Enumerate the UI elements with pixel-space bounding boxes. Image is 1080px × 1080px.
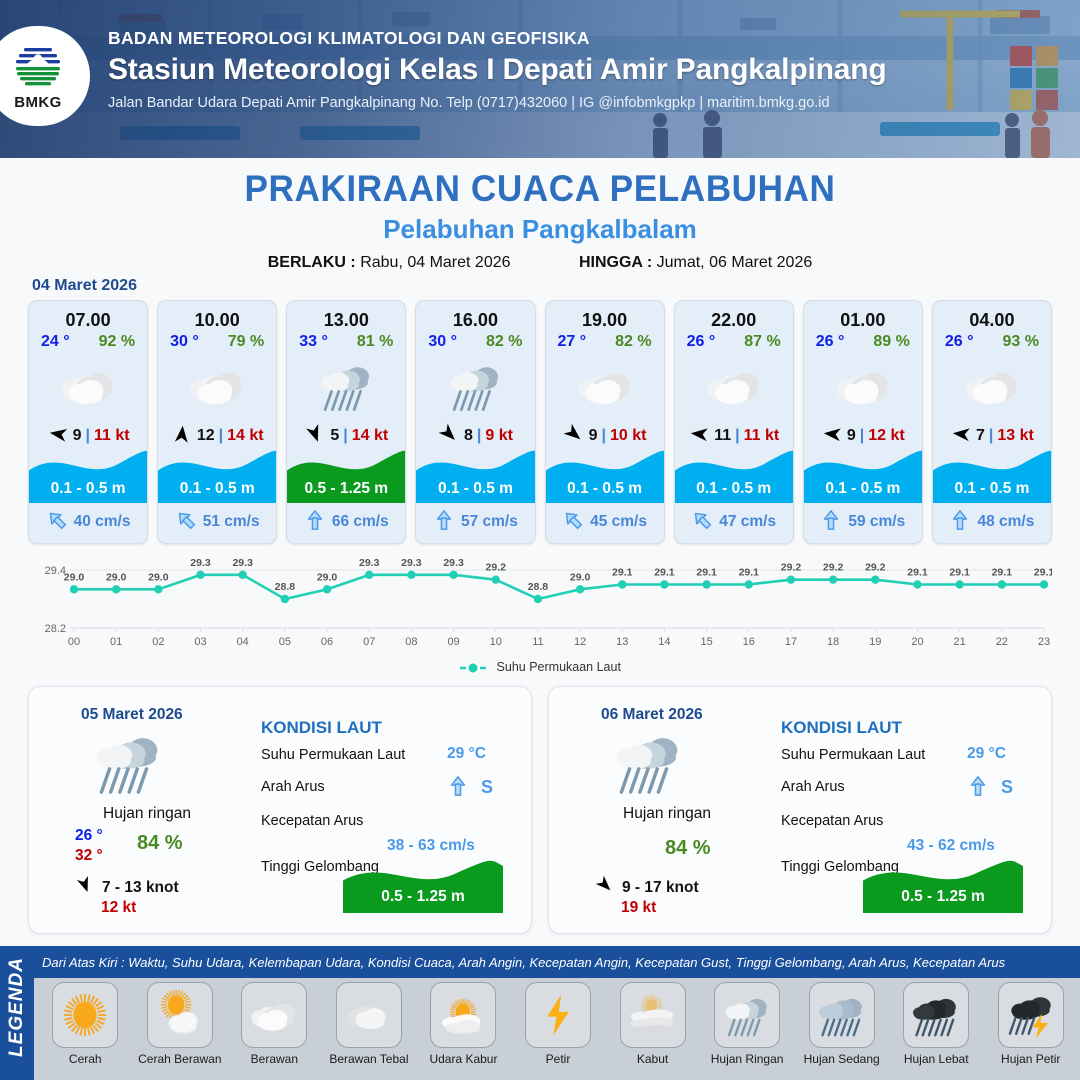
legend-item-label: Hujan Sedang <box>796 1052 887 1066</box>
berawan-tebal-icon <box>336 982 402 1048</box>
svg-text:29.0: 29.0 <box>570 571 591 583</box>
hourly-humidity: 79 % <box>228 333 264 351</box>
daily-gust-value: 12 kt <box>101 899 136 917</box>
svg-text:21: 21 <box>954 636 966 648</box>
legend-icon-row: Cerah Cerah Berawan Berawan Berawan Teba… <box>40 980 1076 1078</box>
daily-wind: 9 - 17 knot <box>595 875 699 900</box>
hourly-humidity: 87 % <box>744 333 780 351</box>
station-contact: Jalan Bandar Udara Depati Amir Pangkalpi… <box>108 95 886 111</box>
legend-item: Berawan Tebal <box>324 980 415 1066</box>
wind-direction-value: 9 <box>73 427 82 445</box>
hourly-humidity: 82 % <box>486 333 522 351</box>
current-direction-arrow-icon <box>433 509 455 536</box>
legend-item: Udara Kabur <box>418 980 509 1066</box>
hourly-time: 04.00 <box>933 310 1051 331</box>
current-direction-arrow-icon <box>967 775 989 802</box>
wind-gust-value: 11 kt <box>94 427 130 445</box>
legend-item: Hujan Sedang <box>796 980 887 1066</box>
berawan-icon <box>675 355 793 417</box>
legend-item-label: Hujan Ringan <box>702 1052 793 1066</box>
berawan-icon <box>158 355 276 417</box>
wind-separator: | <box>85 427 89 445</box>
wind-gust-value: 9 kt <box>485 427 513 445</box>
wind-separator: | <box>735 427 739 445</box>
current-speed-value: 38 - 63 cm/s <box>387 837 475 855</box>
daily-humidity: 84 % <box>665 837 711 860</box>
current-speed-label: Kecepatan Arus <box>781 813 883 829</box>
legend-item-label: Udara Kabur <box>418 1052 509 1066</box>
wave-height-value: 0.1 - 0.5 m <box>546 475 664 503</box>
daily-gust-value: 19 kt <box>621 899 656 917</box>
header-text-block: BADAN METEOROLOGI KLIMATOLOGI DAN GEOFIS… <box>108 28 886 111</box>
hourly-time: 19.00 <box>546 310 664 331</box>
legend-item-label: Berawan <box>229 1052 320 1066</box>
wind-direction-arrow-icon <box>438 423 460 450</box>
hourly-time: 22.00 <box>675 310 793 331</box>
berawan-icon <box>804 355 922 417</box>
legend-item-label: Kabut <box>607 1052 698 1066</box>
wind-gust-value: 13 kt <box>997 427 1033 445</box>
legend-item-label: Hujan Lebat <box>891 1052 982 1066</box>
current-direction-value: S <box>1001 777 1013 798</box>
hourly-temperature: 26 ° <box>816 333 845 351</box>
hujan-petir-icon <box>998 982 1064 1048</box>
wind-direction-arrow-icon <box>688 423 710 450</box>
hourly-card[interactable]: 22.00 26 ° 87 % 11 | 11 kt 0.1 - 0.5 m 4… <box>674 300 794 544</box>
svg-text:15: 15 <box>700 636 712 648</box>
daily-temp-min: 26 ° <box>75 827 103 845</box>
current-speed-value: 43 - 62 cm/s <box>907 837 995 855</box>
svg-text:19: 19 <box>869 636 881 648</box>
wave-height-value: 0.1 - 0.5 m <box>29 475 147 503</box>
validity-line: BERLAKU : Rabu, 04 Maret 2026 HINGGA : J… <box>0 254 1080 272</box>
svg-text:29.1: 29.1 <box>654 567 675 579</box>
svg-text:29.2: 29.2 <box>486 562 507 574</box>
svg-text:29.1: 29.1 <box>907 567 928 579</box>
hourly-card[interactable]: 16.00 30 ° 82 % 8 | 9 kt 0.1 - 0.5 m 57 … <box>415 300 535 544</box>
svg-text:16: 16 <box>743 636 755 648</box>
daily-wind-value: 7 - 13 knot <box>102 879 179 897</box>
wind-gust-value: 12 kt <box>868 427 904 445</box>
bmkg-logo-text: BMKG <box>14 94 61 111</box>
chart-legend: Suhu Permukaan Laut <box>0 660 1080 674</box>
current-direction-arrow-icon <box>447 775 469 802</box>
legend-item: Kabut <box>607 980 698 1066</box>
svg-text:29.3: 29.3 <box>359 557 380 569</box>
svg-text:29.3: 29.3 <box>190 557 211 569</box>
sea-conditions-title: KONDISI LAUT <box>781 718 902 738</box>
hourly-humidity: 89 % <box>873 333 909 351</box>
wind-direction-arrow-icon <box>75 875 95 900</box>
sst-value: 29 °C <box>967 745 1006 763</box>
hourly-humidity: 92 % <box>99 333 135 351</box>
svg-text:08: 08 <box>405 636 417 648</box>
svg-text:13: 13 <box>616 636 628 648</box>
legend-item: Cerah Berawan <box>135 980 226 1066</box>
hujan-ringan-icon <box>416 355 534 417</box>
wind-separator: | <box>860 427 864 445</box>
cerah-icon <box>52 982 118 1048</box>
wave-height-value: 0.1 - 0.5 m <box>158 475 276 503</box>
daily-wind: 7 - 13 knot <box>75 875 179 900</box>
daily-forecast-panel[interactable]: 05 Maret 2026 Hujan ringan 26 ° 32 ° 84 … <box>28 686 532 934</box>
title-block: PRAKIRAAN CUACA PELABUHAN Pelabuhan Pang… <box>0 168 1080 272</box>
wind-direction-arrow-icon <box>563 423 585 450</box>
svg-text:22: 22 <box>996 636 1008 648</box>
legend-item-label: Cerah Berawan <box>135 1052 226 1066</box>
legend-item: Hujan Lebat <box>891 980 982 1066</box>
hourly-date-label: 04 Maret 2026 <box>32 277 137 295</box>
current-speed-value: 47 cm/s <box>719 513 776 531</box>
svg-text:29.4: 29.4 <box>45 565 66 577</box>
wind-direction-arrow-icon <box>950 423 972 450</box>
wind-direction-value: 5 <box>330 427 339 445</box>
hourly-humidity: 93 % <box>1003 333 1039 351</box>
sst-chart-svg: 29.428.229.00029.00129.00229.30329.30428… <box>28 556 1052 656</box>
hourly-temperature: 24 ° <box>41 333 70 351</box>
hourly-card[interactable]: 10.00 30 ° 79 % 12 | 14 kt 0.1 - 0.5 m 5… <box>157 300 277 544</box>
wind-direction-arrow-icon <box>595 875 615 900</box>
wind-gust-value: 10 kt <box>610 427 646 445</box>
hujan-sedang-icon <box>809 982 875 1048</box>
hourly-humidity: 81 % <box>357 333 393 351</box>
current-direction-arrow-icon <box>175 509 197 536</box>
wind-direction-value: 9 <box>847 427 856 445</box>
valid-until-value: Jumat, 06 Maret 2026 <box>657 254 813 271</box>
berawan-icon <box>546 355 664 417</box>
current-direction-label: Arah Arus <box>261 779 325 795</box>
daily-forecast-row: 05 Maret 2026 Hujan ringan 26 ° 32 ° 84 … <box>28 686 1052 934</box>
wave-height-value: 0.1 - 0.5 m <box>804 475 922 503</box>
svg-text:02: 02 <box>152 636 164 648</box>
current-direction-arrow-icon <box>820 509 842 536</box>
current-direction-arrow-icon <box>691 509 713 536</box>
wave-height-value: 0.1 - 0.5 m <box>416 475 534 503</box>
svg-text:05: 05 <box>279 636 291 648</box>
wind-direction-arrow-icon <box>47 423 69 450</box>
svg-text:29.0: 29.0 <box>106 571 127 583</box>
legend-item-label: Hujan Petir <box>985 1052 1076 1066</box>
hourly-card[interactable]: 19.00 27 ° 82 % 9 | 10 kt 0.1 - 0.5 m 45… <box>545 300 665 544</box>
hourly-card[interactable]: 01.00 26 ° 89 % 9 | 12 kt 0.1 - 0.5 m 59… <box>803 300 923 544</box>
hourly-temperature: 26 ° <box>687 333 716 351</box>
station-name: Stasiun Meteorologi Kelas I Depati Amir … <box>108 53 886 87</box>
berawan-icon <box>933 355 1051 417</box>
daily-temp-max: 32 ° <box>75 847 103 865</box>
wind-direction-value: 12 <box>197 427 215 445</box>
wind-separator: | <box>602 427 606 445</box>
chart-legend-label: Suhu Permukaan Laut <box>497 660 621 674</box>
legend-item: Cerah <box>40 980 131 1066</box>
svg-text:29.2: 29.2 <box>865 562 886 574</box>
hourly-time: 10.00 <box>158 310 276 331</box>
current-speed-value: 59 cm/s <box>848 513 905 531</box>
legend-item-label: Berawan Tebal <box>324 1052 415 1066</box>
hourly-time: 16.00 <box>416 310 534 331</box>
sst-label: Suhu Permukaan Laut <box>781 747 925 763</box>
svg-text:17: 17 <box>785 636 797 648</box>
current-direction-arrow-icon <box>949 509 971 536</box>
daily-condition: Hujan ringan <box>57 805 237 823</box>
legend-item: Berawan <box>229 980 320 1066</box>
svg-text:06: 06 <box>321 636 333 648</box>
svg-text:28.8: 28.8 <box>275 581 296 593</box>
legend-tab-label: LEGENDA <box>6 940 28 1074</box>
svg-text:18: 18 <box>827 636 839 648</box>
current-speed-value: 51 cm/s <box>203 513 260 531</box>
hourly-time: 07.00 <box>29 310 147 331</box>
daily-date: 05 Maret 2026 <box>81 706 183 724</box>
svg-text:29.2: 29.2 <box>823 562 844 574</box>
current-speed-value: 45 cm/s <box>590 513 647 531</box>
hourly-temperature: 33 ° <box>299 333 328 351</box>
legend-item-label: Cerah <box>40 1052 131 1066</box>
current-direction-label: Arah Arus <box>781 779 845 795</box>
wave-height-value: 0.5 - 1.25 m <box>863 883 1023 911</box>
valid-from-label: BERLAKU : <box>268 254 356 271</box>
hourly-time: 13.00 <box>287 310 405 331</box>
page-title: PRAKIRAAN CUACA PELABUHAN <box>27 168 1053 210</box>
svg-text:01: 01 <box>110 636 122 648</box>
wind-direction-arrow-icon <box>821 423 843 450</box>
legend-item: Petir <box>513 980 604 1066</box>
svg-text:00: 00 <box>68 636 80 648</box>
svg-text:28.2: 28.2 <box>45 623 66 635</box>
legend-note: Dari Atas Kiri : Waktu, Suhu Udara, Kele… <box>34 946 1080 978</box>
daily-forecast-panel[interactable]: 06 Maret 2026 Hujan ringan 84 % 9 - 17 k… <box>548 686 1052 934</box>
cerah-berawan-icon <box>147 982 213 1048</box>
svg-text:14: 14 <box>658 636 670 648</box>
legend-strip: LEGENDA Dari Atas Kiri : Waktu, Suhu Uda… <box>0 946 1080 1080</box>
wind-direction-arrow-icon <box>171 423 193 450</box>
wind-gust-value: 14 kt <box>227 427 263 445</box>
agency-name: BADAN METEOROLOGI KLIMATOLOGI DAN GEOFIS… <box>108 28 886 49</box>
svg-text:29.0: 29.0 <box>64 571 85 583</box>
daily-date: 06 Maret 2026 <box>601 706 703 724</box>
svg-text:29.3: 29.3 <box>232 557 253 569</box>
berawan-icon <box>29 355 147 417</box>
hourly-temperature: 30 ° <box>428 333 457 351</box>
hourly-temperature: 26 ° <box>945 333 974 351</box>
chart-legend-swatch <box>459 662 487 674</box>
hourly-humidity: 82 % <box>615 333 651 351</box>
legend-item-label: Petir <box>513 1052 604 1066</box>
current-direction-arrow-icon <box>562 509 584 536</box>
wind-direction-arrow-icon <box>304 423 326 450</box>
svg-text:04: 04 <box>237 636 249 648</box>
svg-text:29.0: 29.0 <box>148 571 169 583</box>
svg-text:07: 07 <box>363 636 375 648</box>
hourly-temperature: 27 ° <box>558 333 587 351</box>
hujan-ringan-icon <box>91 725 165 804</box>
hourly-card[interactable]: 04.00 26 ° 93 % 7 | 13 kt 0.1 - 0.5 m 48… <box>932 300 1052 544</box>
current-speed-value: 66 cm/s <box>332 513 389 531</box>
svg-text:29.1: 29.1 <box>1034 567 1052 579</box>
bmkg-logo-icon <box>11 41 65 93</box>
legend-tab: LEGENDA <box>0 946 34 1080</box>
legend-item: Hujan Petir <box>985 980 1076 1066</box>
wind-separator: | <box>219 427 223 445</box>
page-header: BMKG BADAN METEOROLOGI KLIMATOLOGI DAN G… <box>0 0 1080 158</box>
wave-height-value: 0.5 - 1.25 m <box>287 475 405 503</box>
sea-conditions-title: KONDISI LAUT <box>261 718 382 738</box>
hujan-ringan-icon <box>287 355 405 417</box>
hujan-lebat-icon <box>903 982 969 1048</box>
hujan-ringan-icon <box>714 982 780 1048</box>
svg-text:29.1: 29.1 <box>949 567 970 579</box>
svg-text:09: 09 <box>447 636 459 648</box>
valid-from-value: Rabu, 04 Maret 2026 <box>360 254 510 271</box>
svg-text:29.3: 29.3 <box>443 557 464 569</box>
wind-separator: | <box>477 427 481 445</box>
current-speed-label: Kecepatan Arus <box>261 813 363 829</box>
svg-text:28.8: 28.8 <box>528 581 549 593</box>
wind-gust-value: 14 kt <box>352 427 388 445</box>
svg-text:12: 12 <box>574 636 586 648</box>
svg-text:29.1: 29.1 <box>696 567 717 579</box>
berawan-icon <box>241 982 307 1048</box>
svg-text:20: 20 <box>911 636 923 648</box>
hourly-time: 01.00 <box>804 310 922 331</box>
svg-text:03: 03 <box>194 636 206 648</box>
wave-height-value: 0.1 - 0.5 m <box>675 475 793 503</box>
svg-text:29.0: 29.0 <box>317 571 338 583</box>
sst-value: 29 °C <box>447 745 486 763</box>
current-speed-value: 40 cm/s <box>74 513 131 531</box>
svg-text:11: 11 <box>532 636 543 648</box>
svg-text:29.1: 29.1 <box>739 567 760 579</box>
svg-text:29.3: 29.3 <box>401 557 422 569</box>
svg-text:23: 23 <box>1038 636 1050 648</box>
current-speed-value: 48 cm/s <box>977 513 1034 531</box>
kabut-icon <box>620 982 686 1048</box>
wind-direction-value: 9 <box>589 427 598 445</box>
current-direction-arrow-icon <box>46 509 68 536</box>
wind-gust-value: 11 kt <box>744 427 780 445</box>
wave-height-value: 0.5 - 1.25 m <box>343 883 503 911</box>
current-speed-value: 57 cm/s <box>461 513 518 531</box>
daily-humidity: 84 % <box>137 832 183 855</box>
wind-direction-value: 11 <box>714 427 731 445</box>
hourly-card[interactable]: 07.00 24 ° 92 % 9 | 11 kt 0.1 - 0.5 m 40… <box>28 300 148 544</box>
wind-direction-value: 8 <box>464 427 473 445</box>
hourly-forecast-row: 07.00 24 ° 92 % 9 | 11 kt 0.1 - 0.5 m 40… <box>28 300 1052 544</box>
legend-item: Hujan Ringan <box>702 980 793 1066</box>
hourly-card[interactable]: 13.00 33 ° 81 % 5 | 14 kt 0.5 - 1.25 m 6… <box>286 300 406 544</box>
udara-kabur-icon <box>430 982 496 1048</box>
svg-text:29.1: 29.1 <box>612 567 633 579</box>
wind-separator: | <box>343 427 347 445</box>
daily-condition: Hujan ringan <box>577 805 757 823</box>
svg-text:29.1: 29.1 <box>992 567 1013 579</box>
page-subtitle: Pelabuhan Pangkalbalam <box>0 214 1080 245</box>
current-direction-value: S <box>481 777 493 798</box>
wind-direction-value: 7 <box>976 427 985 445</box>
hujan-ringan-icon <box>611 725 685 804</box>
wave-height-value: 0.1 - 0.5 m <box>933 475 1051 503</box>
wind-separator: | <box>989 427 993 445</box>
svg-text:29.2: 29.2 <box>781 562 802 574</box>
svg-text:10: 10 <box>490 636 502 648</box>
sst-chart: 29.428.229.00029.00129.00229.30329.30428… <box>28 556 1052 656</box>
valid-until-label: HINGGA : <box>579 254 652 271</box>
daily-wind-value: 9 - 17 knot <box>622 879 699 897</box>
current-direction-arrow-icon <box>304 509 326 536</box>
sst-label: Suhu Permukaan Laut <box>261 747 405 763</box>
petir-icon <box>525 982 591 1048</box>
hourly-temperature: 30 ° <box>170 333 199 351</box>
